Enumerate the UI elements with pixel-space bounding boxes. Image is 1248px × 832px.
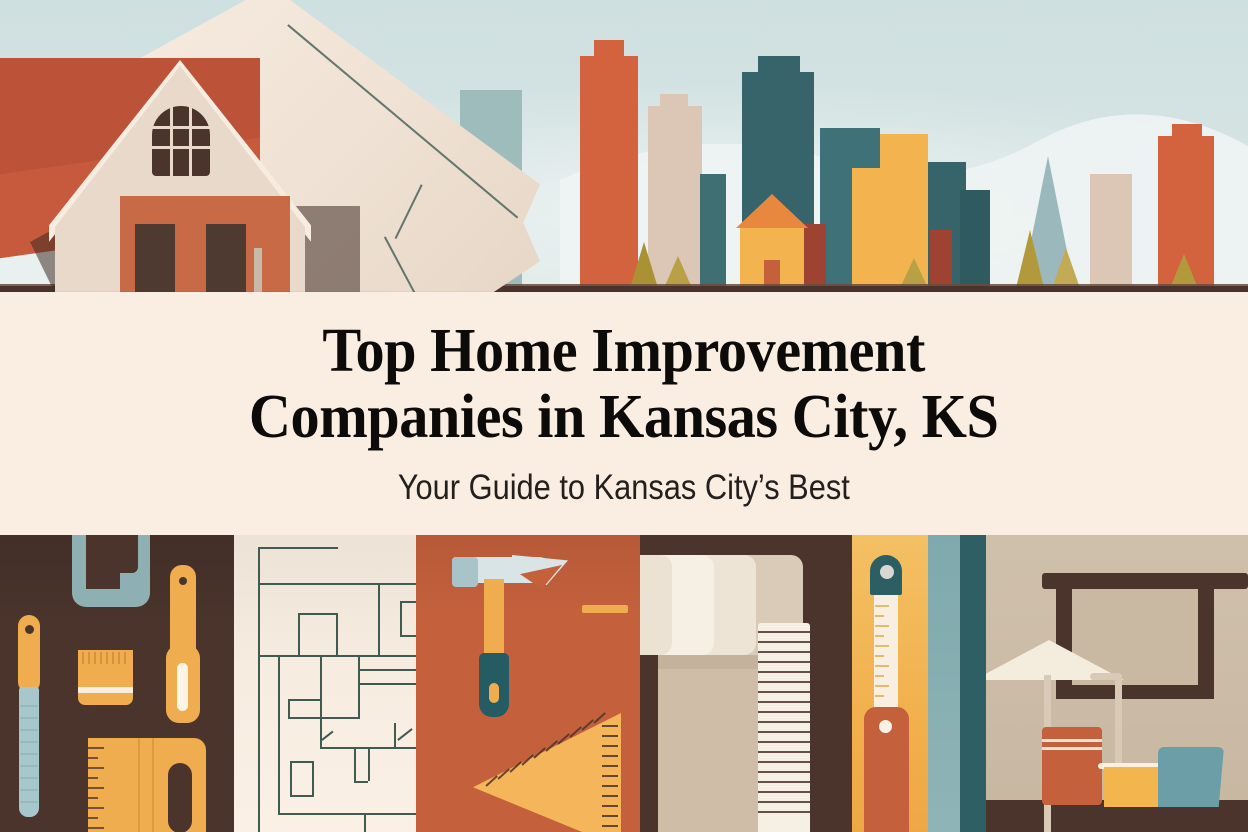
shelf-bottom-beam: [1056, 685, 1214, 699]
bucket-band-upper: [1042, 739, 1102, 742]
skyline-small-house-door: [764, 260, 780, 286]
top-scene-illustration: [0, 0, 1248, 296]
level-body-dot: [879, 720, 892, 733]
panel-tools-dark: [0, 535, 234, 832]
skyline-building-teal-2: [700, 174, 726, 286]
page-subtitle: Your Guide to Kansas City’s Best: [398, 468, 850, 508]
wallpaper-roll-layer-3: [640, 555, 672, 655]
tree-icon: [1170, 254, 1198, 288]
skyline-building-teal-5: [960, 190, 990, 286]
title-band: Top Home Improvement Companies in Kansas…: [0, 292, 1248, 535]
level-scale: [874, 595, 898, 710]
panel-hammer: [416, 535, 640, 832]
poster-canvas: Top Home Improvement Companies in Kansas…: [0, 0, 1248, 832]
putty-knife-hole: [25, 625, 34, 634]
hammer-shaft: [484, 579, 504, 655]
tree-icon: [630, 242, 658, 288]
house-door-right: [206, 224, 246, 296]
scraper-slot: [177, 663, 188, 711]
hammer-neck: [452, 557, 478, 587]
wallpaper-drop: [658, 647, 758, 832]
panel-wallpaper: [640, 535, 852, 832]
house-door-post: [254, 248, 262, 296]
page-title: Top Home Improvement Companies in Kansas…: [249, 319, 999, 450]
tree-icon: [1016, 230, 1044, 288]
foreground-house: [0, 0, 530, 296]
saw-notch-square: [86, 555, 120, 589]
tree-icon: [1052, 248, 1080, 288]
panel-interior: [986, 535, 1248, 832]
bucket-band-lower: [1042, 747, 1102, 750]
panel-swatch-light-teal: [928, 535, 960, 832]
skyline-building-yellow-2: [852, 168, 884, 286]
leaning-board-icon: [1158, 747, 1224, 807]
skyline-building-beige-2: [1090, 174, 1132, 286]
level-bubble: [880, 565, 894, 579]
panel-blueprint: [234, 535, 416, 832]
attic-window-icon: [152, 106, 210, 176]
title-line-1: Top Home Improvement: [249, 319, 999, 385]
paint-brush-ferrule: [78, 687, 133, 693]
skyline-building-red-small-2: [930, 230, 952, 286]
shelf-top-beam: [1042, 573, 1248, 589]
skyline-building-orange-1-cap: [594, 40, 624, 286]
bottom-scene-illustration: [0, 535, 1248, 832]
title-line-2: Companies in Kansas City, KS: [249, 385, 999, 451]
scraper-hole: [179, 577, 187, 585]
putty-knife-blade: [19, 687, 39, 817]
house-door-left: [135, 224, 175, 296]
shelf-left-post: [1056, 589, 1072, 699]
nail-icon: [582, 605, 628, 613]
skyline-small-house-roof: [736, 194, 808, 228]
hammer-grip-inlay: [489, 683, 499, 703]
shelf-right-post: [1198, 589, 1214, 699]
panel-swatch-dark-teal: [960, 535, 986, 832]
ruler-slot: [168, 763, 192, 832]
panel-level: [852, 535, 928, 832]
